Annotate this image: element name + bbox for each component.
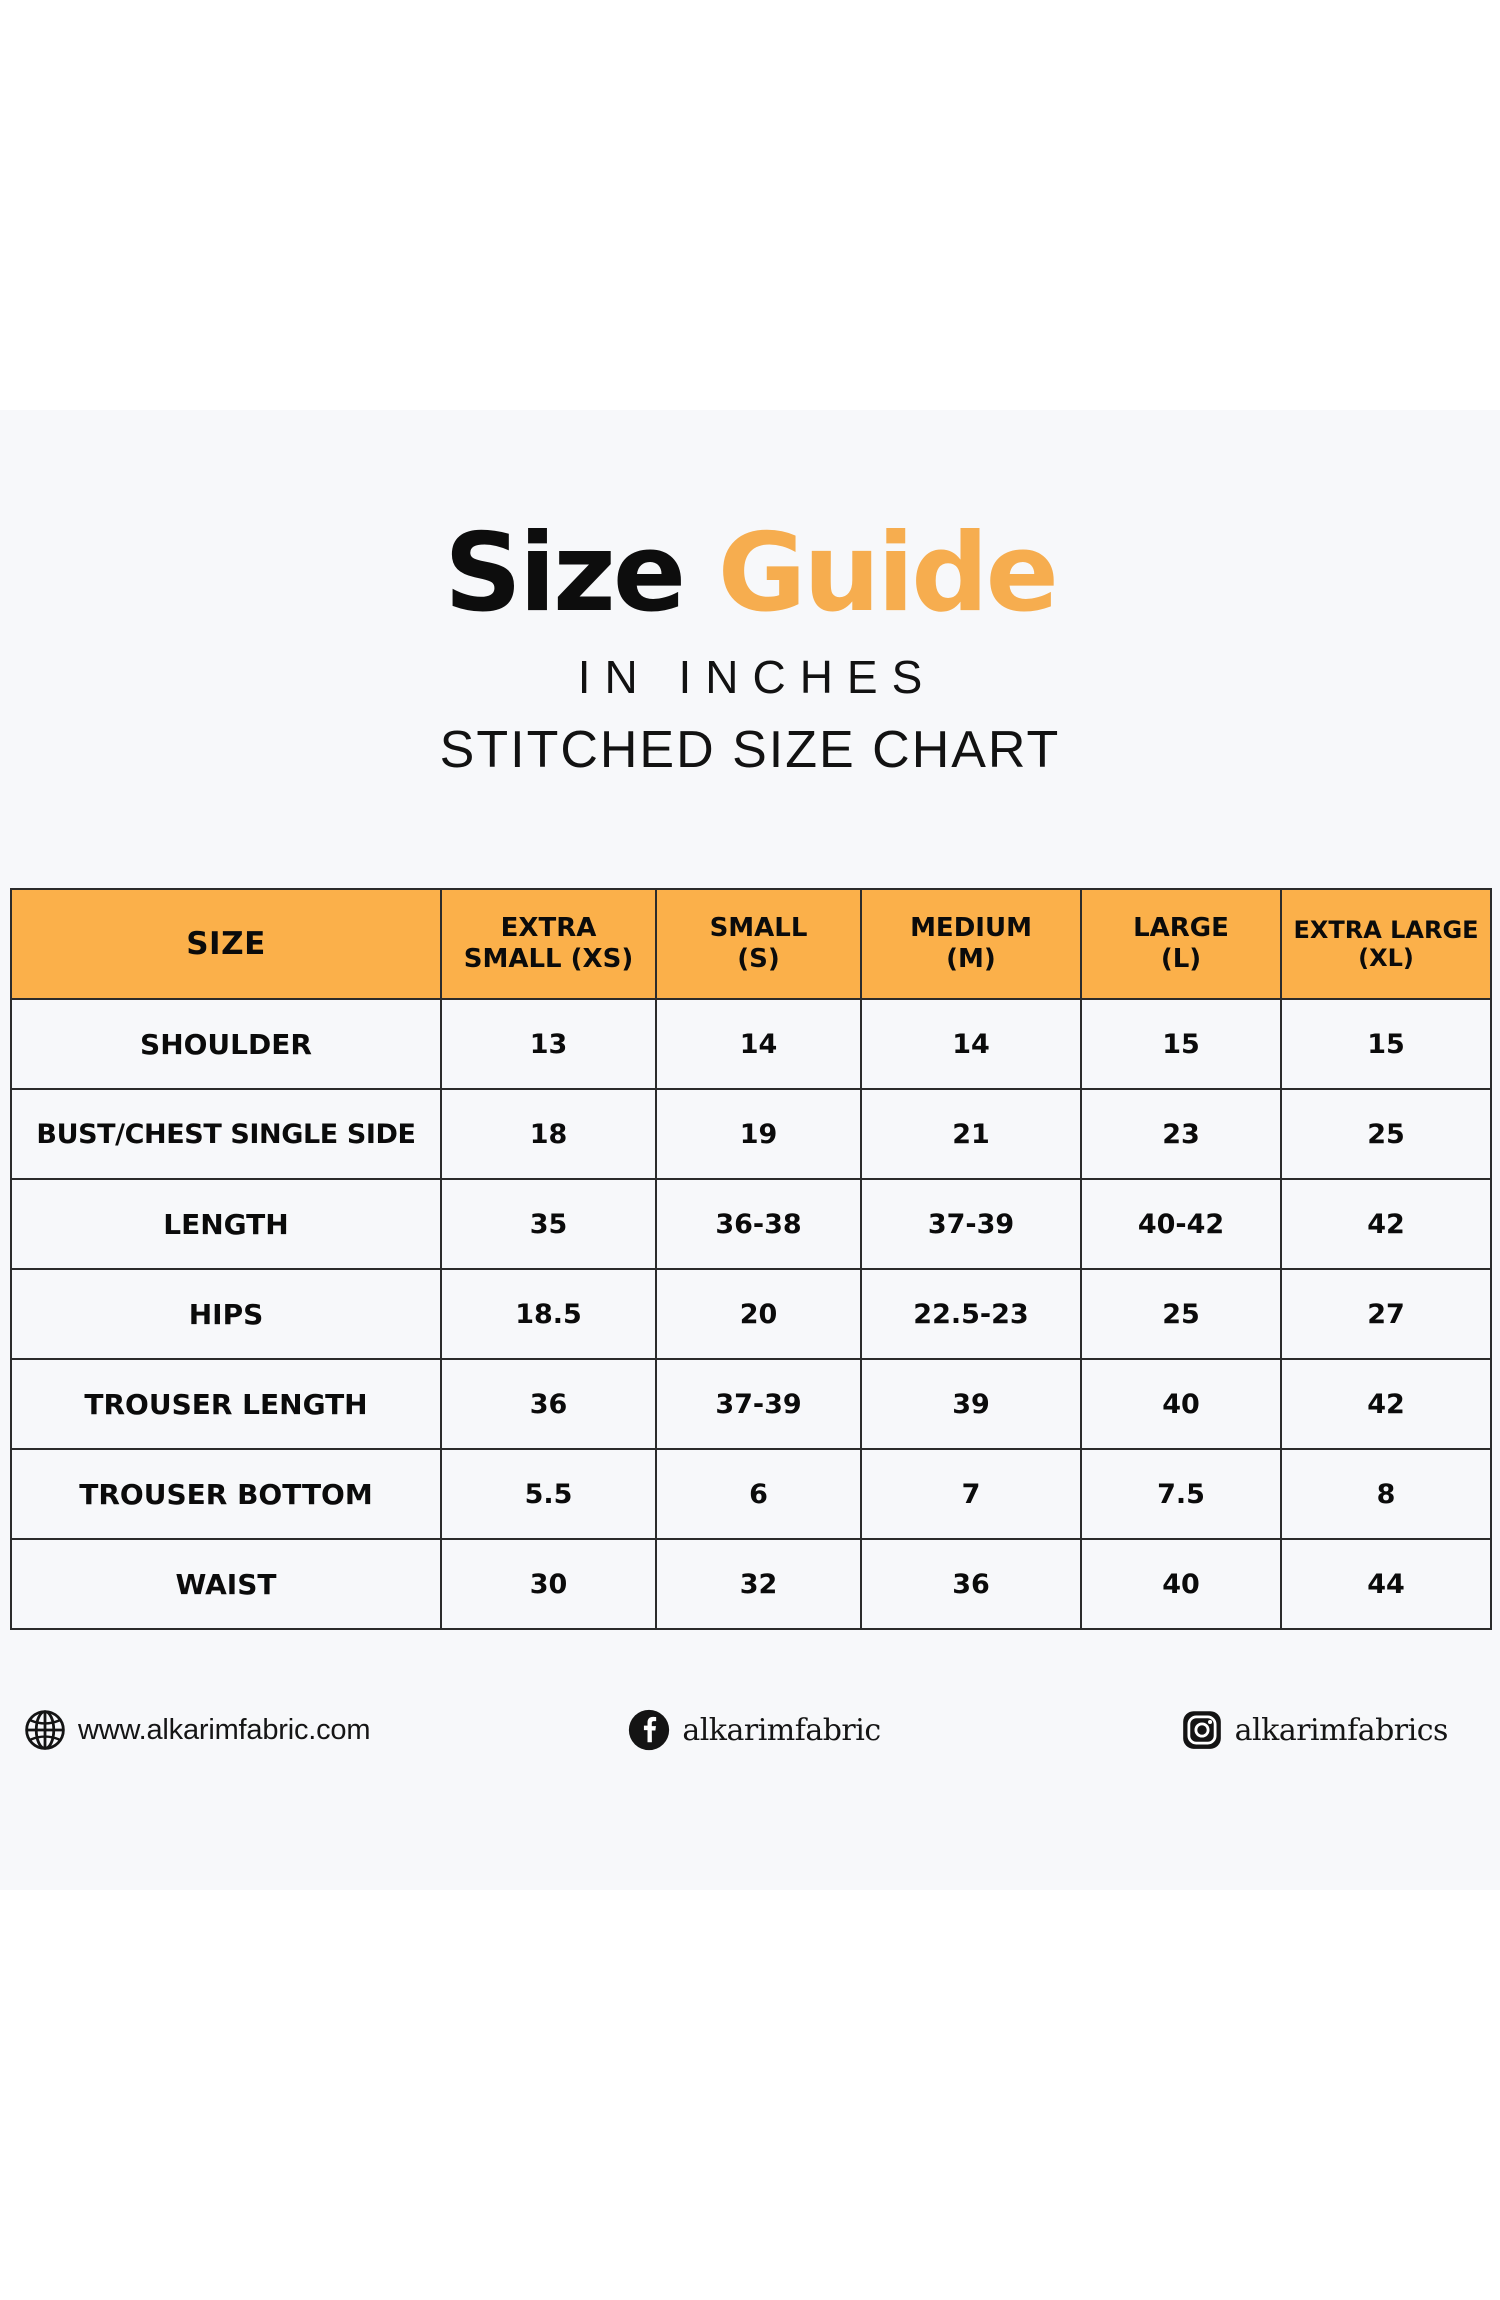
- column-header-s: SMALL (S): [656, 889, 861, 999]
- footer-instagram-text: alkarimfabrics: [1235, 1713, 1448, 1748]
- row-label-trouser-bottom: TROUSER BOTTOM: [11, 1449, 441, 1539]
- cell-shoulder-s: 14: [656, 999, 861, 1089]
- table-row: TROUSER BOTTOM 5.5 6 7 7.5 8: [11, 1449, 1491, 1539]
- cell-trouser-length-s: 37-39: [656, 1359, 861, 1449]
- globe-icon: [24, 1709, 66, 1751]
- cell-waist-xs: 30: [441, 1539, 656, 1629]
- row-label-trouser-length: TROUSER LENGTH: [11, 1359, 441, 1449]
- cell-shoulder-m: 14: [861, 999, 1081, 1089]
- cell-waist-s: 32: [656, 1539, 861, 1629]
- cell-trouser-bottom-xs: 5.5: [441, 1449, 656, 1539]
- cell-bust-xs: 18: [441, 1089, 656, 1179]
- column-header-xl-line2: (XL): [1358, 944, 1414, 972]
- table-header-row: SIZE EXTRA SMALL (XS) SMALL (S) MEDIUM (…: [11, 889, 1491, 999]
- column-header-m-line2: (M): [946, 944, 996, 974]
- cell-trouser-bottom-l: 7.5: [1081, 1449, 1281, 1539]
- cell-hips-l: 25: [1081, 1269, 1281, 1359]
- row-label-hips: HIPS: [11, 1269, 441, 1359]
- column-header-l-line1: LARGE: [1133, 913, 1229, 943]
- table-row: LENGTH 35 36-38 37-39 40-42 42: [11, 1179, 1491, 1269]
- table-body: SHOULDER 13 14 14 15 15 BUST/CHEST SINGL…: [11, 999, 1491, 1629]
- subtitle-units: IN INCHES: [0, 650, 1500, 704]
- cell-shoulder-xs: 13: [441, 999, 656, 1089]
- table-row: TROUSER LENGTH 36 37-39 39 40 42: [11, 1359, 1491, 1449]
- table-row: BUST/CHEST SINGLE SIDE 18 19 21 23 25: [11, 1089, 1491, 1179]
- table-header: SIZE EXTRA SMALL (XS) SMALL (S) MEDIUM (…: [11, 889, 1491, 999]
- column-header-xs: EXTRA SMALL (XS): [441, 889, 656, 999]
- cell-trouser-length-l: 40: [1081, 1359, 1281, 1449]
- size-guide-card: Size Guide IN INCHES STITCHED SIZE CHART…: [0, 410, 1500, 1890]
- cell-length-m: 37-39: [861, 1179, 1081, 1269]
- title-word-size: Size: [444, 511, 683, 636]
- table-row: WAIST 30 32 36 40 44: [11, 1539, 1491, 1629]
- cell-trouser-bottom-s: 6: [656, 1449, 861, 1539]
- size-guide-page: Size Guide IN INCHES STITCHED SIZE CHART…: [0, 0, 1500, 2300]
- cell-trouser-bottom-xl: 8: [1281, 1449, 1491, 1539]
- column-header-size: SIZE: [11, 889, 441, 999]
- footer: www.alkarimfabric.com alkarimfabric alka…: [0, 1685, 1500, 1775]
- cell-bust-l: 23: [1081, 1089, 1281, 1179]
- cell-length-s: 36-38: [656, 1179, 861, 1269]
- cell-length-xs: 35: [441, 1179, 656, 1269]
- cell-bust-xl: 25: [1281, 1089, 1491, 1179]
- column-header-l: LARGE (L): [1081, 889, 1281, 999]
- cell-length-l: 40-42: [1081, 1179, 1281, 1269]
- column-header-l-line2: (L): [1161, 944, 1201, 974]
- cell-trouser-bottom-m: 7: [861, 1449, 1081, 1539]
- row-label-shoulder: SHOULDER: [11, 999, 441, 1089]
- cell-bust-s: 19: [656, 1089, 861, 1179]
- cell-trouser-length-xl: 42: [1281, 1359, 1491, 1449]
- title-block: Size Guide IN INCHES STITCHED SIZE CHART: [0, 410, 1500, 780]
- column-header-s-line1: SMALL: [710, 913, 808, 943]
- cell-shoulder-xl: 15: [1281, 999, 1491, 1089]
- footer-website[interactable]: www.alkarimfabric.com: [24, 1709, 370, 1751]
- cell-hips-xl: 27: [1281, 1269, 1491, 1359]
- column-header-xs-line1: EXTRA: [501, 913, 597, 943]
- footer-facebook-text: alkarimfabric: [682, 1713, 880, 1748]
- cell-hips-s: 20: [656, 1269, 861, 1359]
- cell-waist-l: 40: [1081, 1539, 1281, 1629]
- column-header-xs-line2: SMALL (XS): [464, 944, 633, 974]
- footer-facebook[interactable]: alkarimfabric: [628, 1709, 880, 1751]
- footer-instagram[interactable]: alkarimfabrics: [1181, 1709, 1448, 1751]
- column-header-s-line2: (S): [737, 944, 780, 974]
- row-label-bust-chest: BUST/CHEST SINGLE SIDE: [11, 1089, 441, 1179]
- title-word-guide: Guide: [718, 511, 1056, 636]
- subtitle-chart-type: STITCHED SIZE CHART: [0, 720, 1500, 780]
- size-table-container: SIZE EXTRA SMALL (XS) SMALL (S) MEDIUM (…: [10, 888, 1490, 1630]
- column-header-xl: EXTRA LARGE (XL): [1281, 889, 1491, 999]
- page-title: Size Guide: [0, 520, 1500, 628]
- cell-trouser-length-m: 39: [861, 1359, 1081, 1449]
- cell-length-xl: 42: [1281, 1179, 1491, 1269]
- cell-hips-m: 22.5-23: [861, 1269, 1081, 1359]
- cell-waist-m: 36: [861, 1539, 1081, 1629]
- cell-waist-xl: 44: [1281, 1539, 1491, 1629]
- table-row: SHOULDER 13 14 14 15 15: [11, 999, 1491, 1089]
- cell-shoulder-l: 15: [1081, 999, 1281, 1089]
- cell-trouser-length-xs: 36: [441, 1359, 656, 1449]
- instagram-icon: [1181, 1709, 1223, 1751]
- row-label-waist: WAIST: [11, 1539, 441, 1629]
- facebook-icon: [628, 1709, 670, 1751]
- size-table: SIZE EXTRA SMALL (XS) SMALL (S) MEDIUM (…: [10, 888, 1492, 1630]
- row-label-length: LENGTH: [11, 1179, 441, 1269]
- table-row: HIPS 18.5 20 22.5-23 25 27: [11, 1269, 1491, 1359]
- cell-bust-m: 21: [861, 1089, 1081, 1179]
- column-header-m: MEDIUM (M): [861, 889, 1081, 999]
- cell-hips-xs: 18.5: [441, 1269, 656, 1359]
- column-header-m-line1: MEDIUM: [910, 913, 1032, 943]
- column-header-xl-line1: EXTRA LARGE: [1293, 916, 1478, 944]
- footer-website-text: www.alkarimfabric.com: [78, 1714, 370, 1747]
